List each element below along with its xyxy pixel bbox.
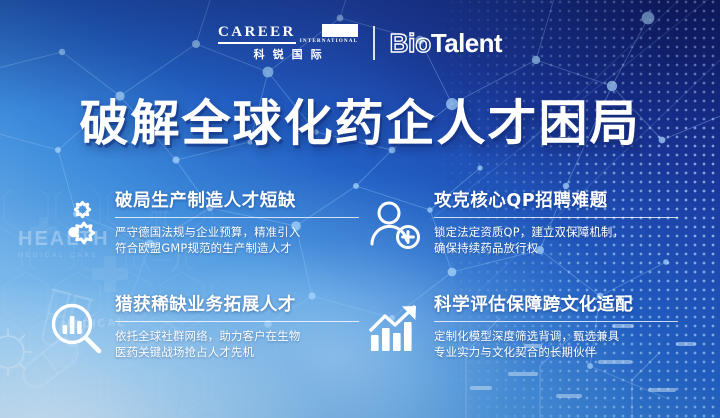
- biotalent-logo-solid: Talent: [431, 30, 502, 56]
- career-logo-sub: INTERNATIONAL: [300, 38, 358, 44]
- feature-rule: [434, 321, 678, 322]
- career-logo-english: CAREER: [218, 25, 296, 40]
- feature-line-2: 医药关键战场抢占人才先机: [115, 344, 359, 361]
- feature-paragraph: 依托全球社群网络，助力客户在生物 医药关键战场抢占人才先机: [115, 328, 359, 361]
- logo-divider: [373, 26, 375, 60]
- feature-heading: 猎获稀缺业务拓展人才: [115, 296, 359, 316]
- feature-item-manufacturing[interactable]: 破局生产制造人才短缺 严守德国法规与企业预算，精准引入 符合欧盟GMP规范的生产…: [48, 190, 359, 282]
- growth-arrow-icon: [367, 300, 423, 356]
- person-add-icon: [367, 196, 423, 252]
- feature-body: 攻克核心QP招聘难题 锁定法定资质QP，建立双保障机制， 确保持续药品放行权: [434, 190, 678, 257]
- feature-body: 猎获稀缺业务拓展人才 依托全球社群网络，助力客户在生物 医药关键战场抢占人才先机: [115, 294, 359, 361]
- feature-rule: [434, 217, 678, 218]
- career-logo-rule: [218, 42, 296, 44]
- feature-heading: 破局生产制造人才短缺: [115, 192, 359, 212]
- feature-heading: 攻克核心QP招聘难题: [434, 192, 678, 212]
- feature-line-1: 锁定法定资质QP，建立双保障机制，: [434, 224, 678, 241]
- feature-item-assessment[interactable]: 科学评估保障跨文化适配 定制化模型深度筛选背调，甄选兼具 专业实力与文化契合的长…: [367, 294, 678, 386]
- feature-heading: 科学评估保障跨文化适配: [434, 296, 678, 316]
- feature-line-1: 依托全球社群网络，助力客户在生物: [115, 328, 359, 345]
- feature-rule: [115, 217, 359, 218]
- feature-body: 科学评估保障跨文化适配 定制化模型深度筛选背调，甄选兼具 专业实力与文化契合的长…: [434, 294, 678, 361]
- feature-rule: [115, 321, 359, 322]
- feature-line-1: 定制化模型深度筛选背调，甄选兼具: [434, 328, 678, 345]
- feature-item-qp[interactable]: 攻克核心QP招聘难题 锁定法定资质QP，建立双保障机制， 确保持续药品放行权: [367, 190, 678, 282]
- feature-item-bd-talent[interactable]: 猎获稀缺业务拓展人才 依托全球社群网络，助力客户在生物 医药关键战场抢占人才先机: [48, 294, 359, 386]
- feature-line-2: 专业实力与文化契合的长期伙伴: [434, 344, 678, 361]
- feature-body: 破局生产制造人才短缺 严守德国法规与企业预算，精准引入 符合欧盟GMP规范的生产…: [115, 190, 359, 257]
- banner-root: HEALTH MEDICAL CARE MEDICAL: [0, 0, 720, 418]
- feature-line-2: 符合欧盟GMP规范的生产制造人才: [115, 240, 359, 257]
- career-logo-cn-0: 科: [254, 46, 266, 62]
- feature-paragraph: 定制化模型深度筛选背调，甄选兼具 专业实力与文化契合的长期伙伴: [434, 328, 678, 361]
- gears-icon: [48, 196, 104, 252]
- career-logo-cn-1: 锐: [273, 46, 285, 62]
- career-logo-chinese: 科 锐 国 际: [254, 46, 323, 62]
- feature-paragraph: 锁定法定资质QP，建立双保障机制， 确保持续药品放行权: [434, 224, 678, 257]
- page-title: 破解全球化药企人才困局: [0, 99, 720, 148]
- search-bar-chart-icon: [48, 300, 104, 356]
- career-logo-cn-2: 国: [292, 46, 304, 62]
- career-international-logo[interactable]: CAREER INTERNATIONAL 科 锐 国 际: [218, 24, 358, 62]
- career-logo-cn-3: 际: [311, 46, 323, 62]
- biotalent-logo[interactable]: Bio Talent: [390, 30, 502, 56]
- feature-line-1: 严守德国法规与企业预算，精准引入: [115, 224, 359, 241]
- biotalent-logo-outline: Bio: [390, 30, 431, 56]
- logo-bar: CAREER INTERNATIONAL 科 锐 国 际 Bio Talent: [0, 24, 720, 62]
- career-logo-block: [322, 24, 358, 37]
- feature-grid: 破局生产制造人才短缺 严守德国法规与企业预算，精准引入 符合欧盟GMP规范的生产…: [48, 190, 678, 386]
- feature-paragraph: 严守德国法规与企业预算，精准引入 符合欧盟GMP规范的生产制造人才: [115, 224, 359, 257]
- feature-line-2: 确保持续药品放行权: [434, 240, 678, 257]
